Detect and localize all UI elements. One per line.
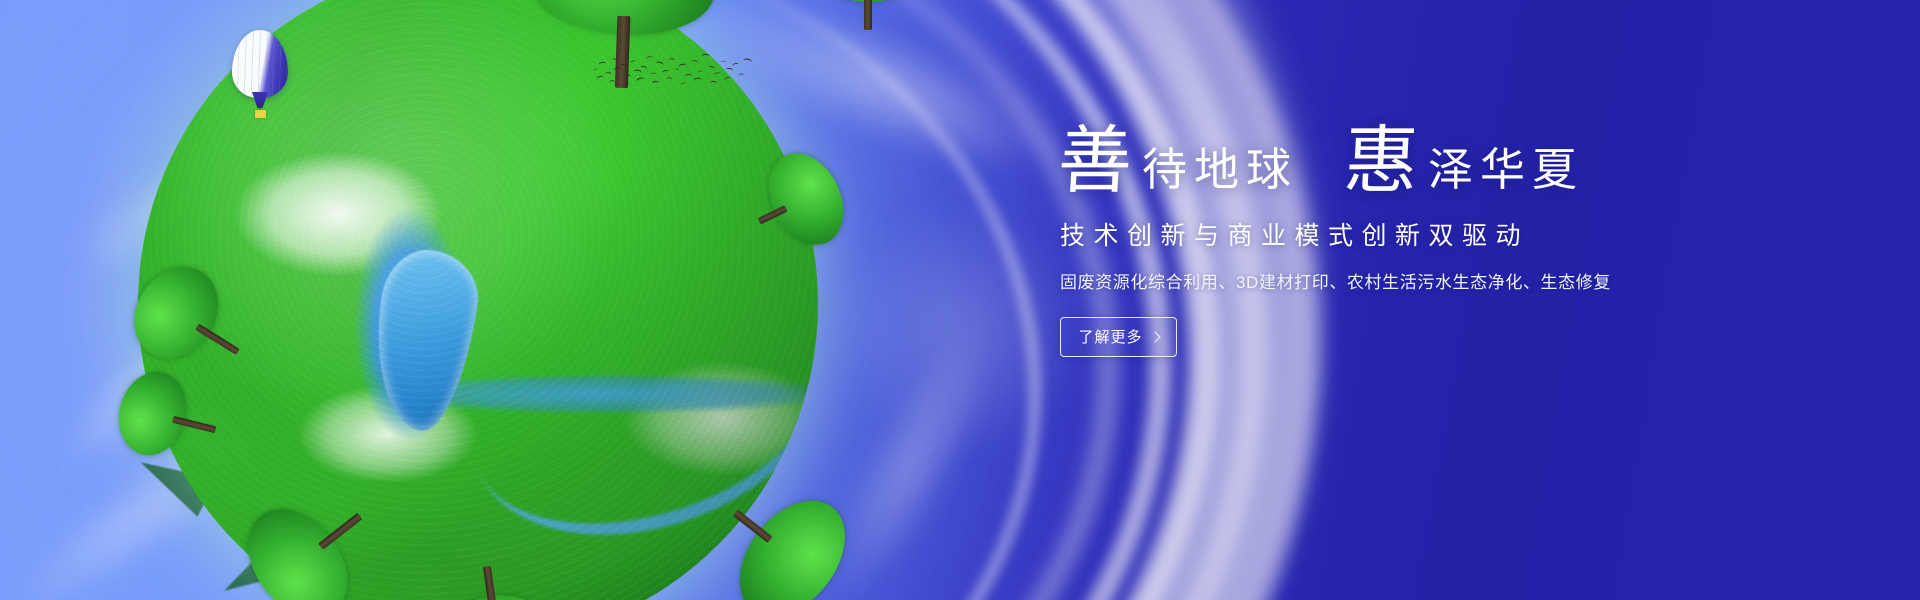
learn-more-label: 了解更多: [1078, 326, 1142, 347]
bird-icon: [624, 73, 632, 79]
bird-icon: [685, 74, 692, 79]
description: 固废资源化综合利用、3D建材打印、农村生活污水生态净化、生态修复: [1060, 268, 1698, 293]
bird-flock-icon: [590, 48, 750, 92]
bird-icon: [668, 58, 674, 63]
headline-rest-1: 待地球: [1132, 148, 1298, 198]
bird-icon: [739, 73, 745, 77]
balloon-basket: [255, 110, 266, 118]
bird-icon: [611, 58, 618, 64]
bird-icon: [651, 72, 657, 76]
bird-icon: [708, 65, 716, 71]
bird-icon: [732, 62, 740, 68]
bird-icon: [693, 77, 702, 83]
bird-icon: [714, 72, 721, 77]
balloon-skirt: [252, 92, 268, 108]
hero-banner: 善 待地球 惠 泽华夏 技术创新与商业模式创新双驱动 固废资源化综合利用、3D建…: [0, 0, 1920, 600]
bird-icon: [662, 69, 670, 75]
headline-rest-2: 泽华夏: [1418, 148, 1584, 198]
bird-icon: [710, 80, 718, 86]
bird-icon: [596, 75, 605, 82]
bird-icon: [636, 77, 646, 85]
chevron-right-icon: [1149, 331, 1160, 342]
hot-air-balloon-icon: [232, 30, 288, 124]
bird-icon: [605, 72, 612, 77]
bird-icon: [630, 60, 636, 65]
bird-icon: [743, 58, 752, 65]
bird-icon: [620, 64, 628, 70]
bird-icon: [598, 61, 606, 67]
subtitle: 技术创新与商业模式创新双驱动: [1060, 216, 1698, 252]
balloon-envelope: [232, 30, 288, 98]
bird-icon: [702, 54, 710, 60]
bird-icon: [698, 70, 704, 75]
tree-trunk: [483, 566, 497, 600]
bird-icon: [623, 82, 629, 87]
bird-icon: [593, 68, 599, 73]
learn-more-button[interactable]: 了解更多: [1060, 317, 1177, 357]
tree-trunk: [864, 0, 872, 30]
bird-icon: [646, 56, 653, 62]
bird-icon: [691, 60, 698, 66]
headline-char-1: 善: [1056, 128, 1134, 198]
bird-icon: [680, 82, 686, 87]
bird-icon: [609, 80, 616, 85]
bird-icon: [721, 61, 726, 65]
bird-icon: [678, 63, 687, 70]
lake: [364, 244, 484, 436]
bird-icon: [666, 77, 673, 82]
banner-content: 善 待地球 惠 泽华夏 技术创新与商业模式创新双驱动 固废资源化综合利用、3D建…: [1058, 128, 1698, 357]
bird-icon: [652, 81, 660, 87]
tree-icon: [814, 0, 924, 22]
page-title: 善 待地球 惠 泽华夏: [1058, 128, 1698, 198]
headline-char-2: 惠: [1342, 128, 1420, 198]
bird-icon: [655, 61, 664, 69]
bird-icon: [724, 76, 731, 82]
